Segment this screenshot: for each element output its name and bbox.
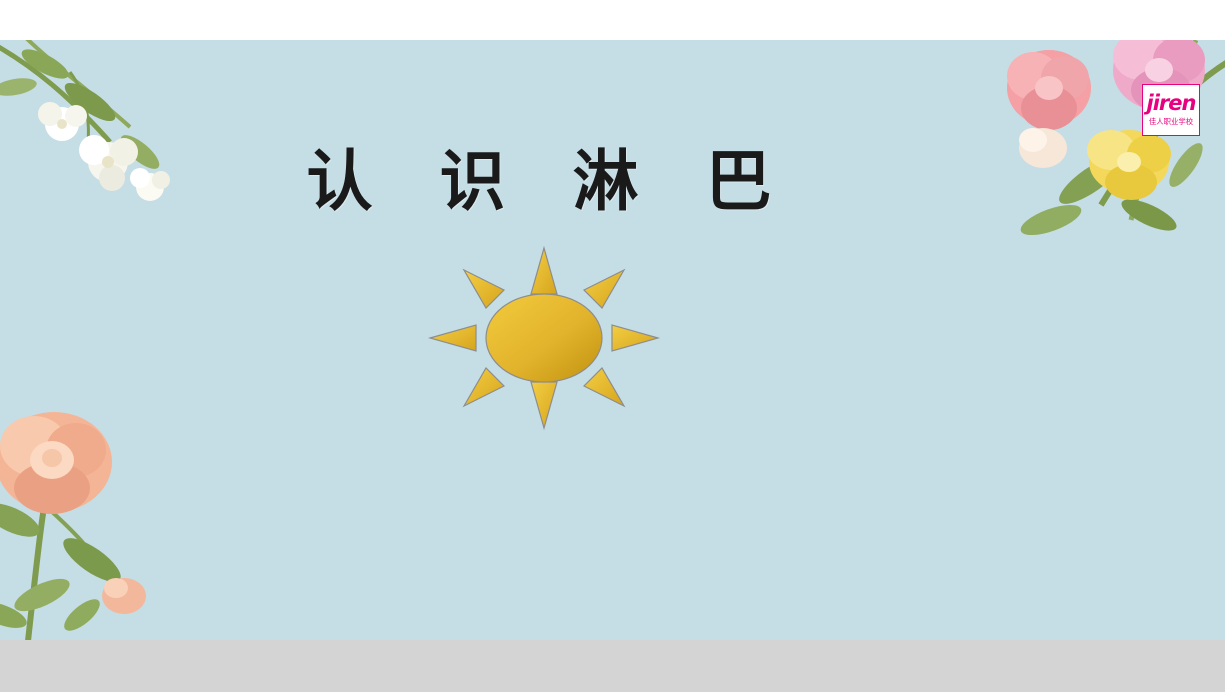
- sun-icon: [428, 228, 660, 448]
- page-title: 认 识 淋 巴: [0, 128, 1100, 224]
- bottom-bar: [0, 640, 1225, 692]
- top-bar: [0, 0, 1225, 40]
- floral-bottom-left-decoration: [0, 400, 182, 640]
- school-logo: jiren 佳人职业学校: [1142, 84, 1200, 136]
- school-logo-mark: jiren: [1147, 93, 1196, 114]
- slide-viewport: 认 识 淋 巴: [0, 0, 1225, 692]
- school-logo-name: 佳人职业学校: [1149, 118, 1193, 127]
- slide-canvas: 认 识 淋 巴: [0, 40, 1225, 640]
